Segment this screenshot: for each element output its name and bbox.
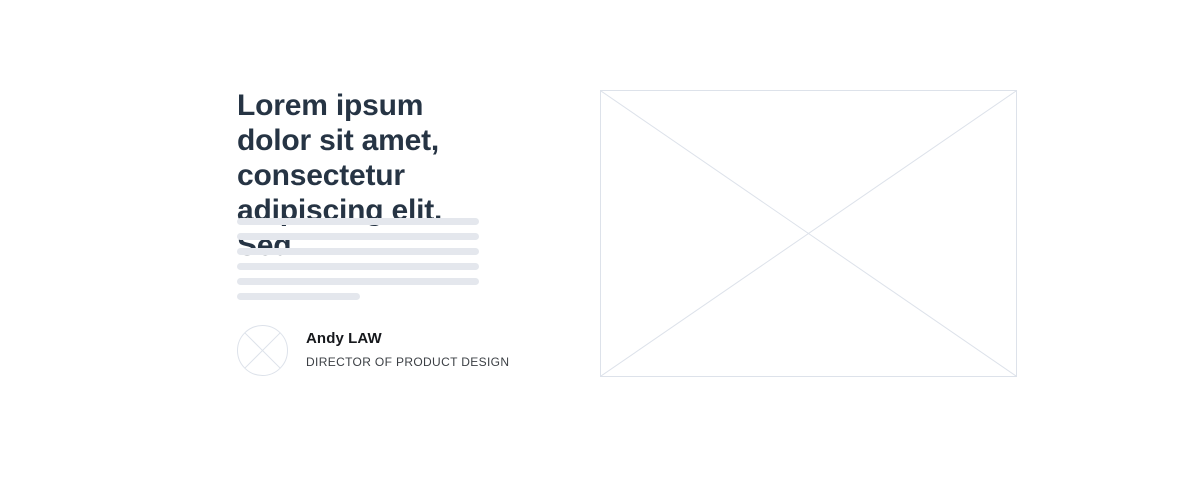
author-role: DIRECTOR OF PRODUCT DESIGN [306, 355, 509, 369]
skeleton-line [237, 248, 479, 255]
author-block: Andy LAW DIRECTOR OF PRODUCT DESIGN [237, 325, 509, 376]
skeleton-line [237, 278, 479, 285]
author-name: Andy LAW [306, 330, 509, 348]
image-placeholder-rect-icon [601, 91, 1016, 376]
image-placeholder-circle-icon [237, 325, 288, 376]
author-text: Andy LAW DIRECTOR OF PRODUCT DESIGN [306, 330, 509, 371]
body-text-skeleton [237, 218, 479, 300]
image-placeholder [600, 90, 1017, 377]
skeleton-line [237, 218, 479, 225]
avatar [237, 325, 288, 376]
skeleton-line [237, 293, 360, 300]
skeleton-line [237, 263, 479, 270]
testimonial-section: Lorem ipsum dolor sit amet, consectetur … [0, 0, 1200, 481]
skeleton-line [237, 233, 479, 240]
